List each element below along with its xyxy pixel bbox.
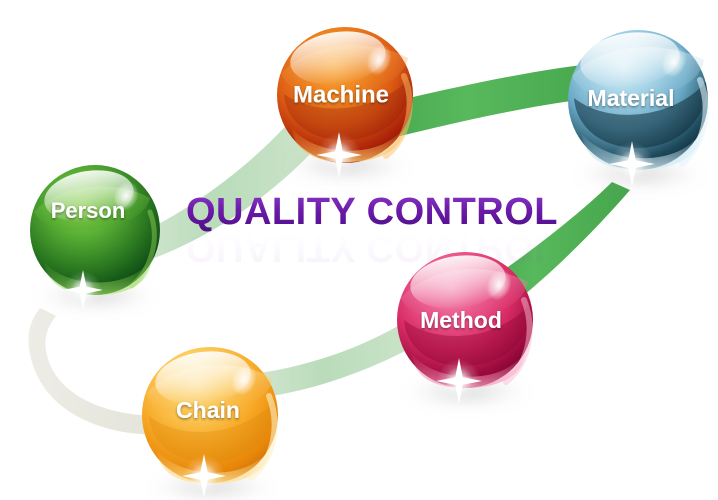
quality-control-diagram: QUALITY CONTROL QUALITY CONTROL Person: [0, 0, 718, 500]
title-group: QUALITY CONTROL QUALITY CONTROL: [186, 191, 558, 269]
machine-label: Machine: [293, 81, 389, 108]
page-title: QUALITY CONTROL: [186, 191, 558, 233]
person-label: Person: [51, 198, 126, 223]
diagram-canvas: QUALITY CONTROL QUALITY CONTROL Person: [0, 0, 718, 500]
page-title-reflection: QUALITY CONTROL: [186, 227, 558, 269]
node-person[interactable]: Person: [30, 164, 160, 310]
material-label: Material: [588, 85, 675, 111]
chain-label: Chain: [176, 397, 240, 423]
method-label: Method: [420, 307, 502, 333]
node-method[interactable]: Method: [397, 250, 533, 407]
node-machine[interactable]: Machine: [277, 26, 413, 181]
